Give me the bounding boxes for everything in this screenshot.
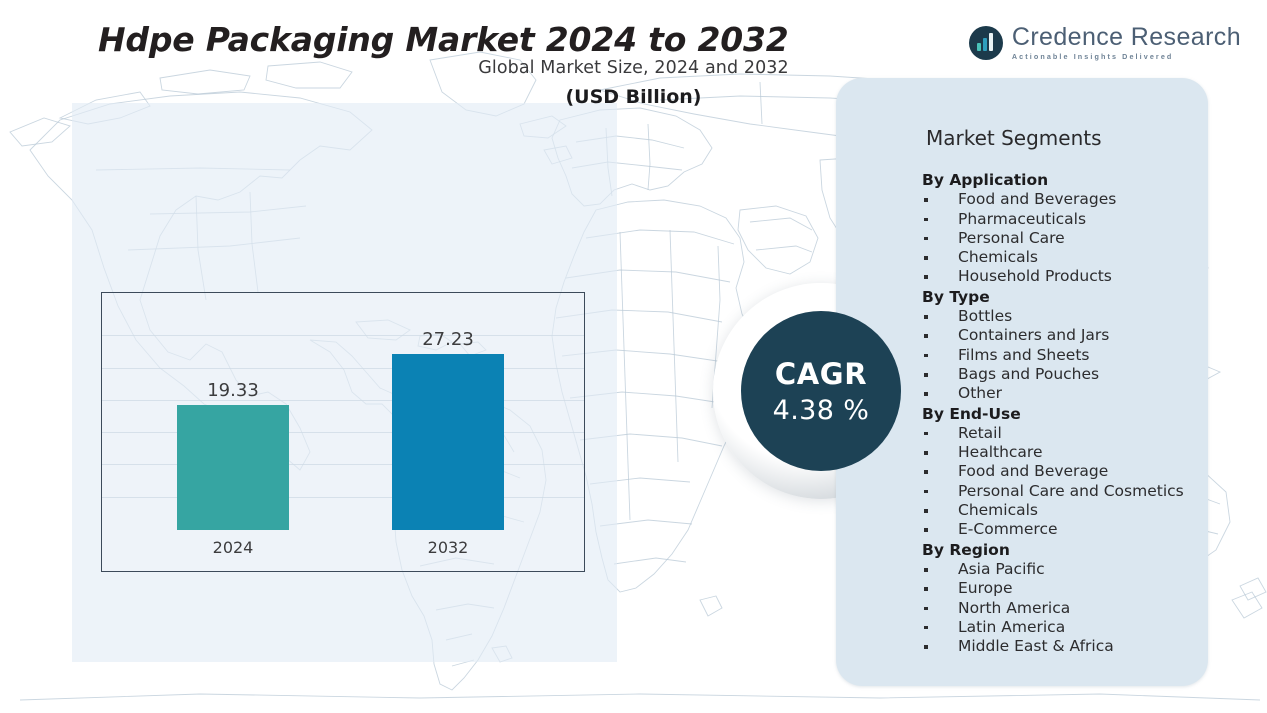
segment-list-item: Chemicals <box>922 248 1198 267</box>
brand-tagline: Actionable Insights Delivered <box>1012 53 1241 60</box>
segment-list-item: Containers and Jars <box>922 326 1198 345</box>
bar-chart-circle-icon <box>969 26 1003 60</box>
segment-item-label: Containers and Jars <box>958 326 1109 344</box>
segment-item-label: Personal Care and Cosmetics <box>958 482 1184 500</box>
segment-list-item: Personal Care <box>922 229 1198 248</box>
segment-list-item: North America <box>922 599 1198 618</box>
bullet-icon <box>924 470 928 474</box>
segment-group-heading: By Region <box>922 541 1198 560</box>
segment-list-item: Food and Beverage <box>922 462 1198 481</box>
bullet-icon <box>924 315 928 319</box>
cagr-value: 4.38 % <box>773 395 870 426</box>
bullet-icon <box>924 373 928 377</box>
bullet-icon <box>924 626 928 630</box>
bar-group-2024: 19.33 2024 <box>177 405 289 530</box>
bullet-icon <box>924 432 928 436</box>
bar-category-label: 2032 <box>428 538 469 557</box>
segment-item-label: Food and Beverage <box>958 462 1108 480</box>
segment-item-label: Europe <box>958 579 1013 597</box>
segment-item-label: Latin America <box>958 618 1065 636</box>
segment-list-item: Films and Sheets <box>922 346 1198 365</box>
bar-2024 <box>177 405 289 530</box>
bullet-icon <box>924 451 928 455</box>
bullet-icon <box>924 509 928 513</box>
bullet-icon <box>924 587 928 591</box>
segment-list-item: Food and Beverages <box>922 190 1198 209</box>
bullet-icon <box>924 334 928 338</box>
page-title: Hdpe Packaging Market 2024 to 2032 <box>98 20 789 59</box>
segment-item-label: Middle East & Africa <box>958 637 1114 655</box>
segment-list-item: Bags and Pouches <box>922 365 1198 384</box>
segment-group-heading: By Application <box>922 171 1198 190</box>
segment-item-label: Chemicals <box>958 501 1038 519</box>
segment-list-item: Asia Pacific <box>922 560 1198 579</box>
segment-group-heading: By End-Use <box>922 405 1198 424</box>
segment-item-label: Chemicals <box>958 248 1038 266</box>
bullet-icon <box>924 528 928 532</box>
segment-item-label: Pharmaceuticals <box>958 210 1086 228</box>
market-segments-list: By ApplicationFood and BeveragesPharmace… <box>922 170 1198 656</box>
brand-logo: Credence Research Actionable Insights De… <box>969 25 1241 60</box>
infographic-page: Hdpe Packaging Market 2024 to 2032 Crede… <box>0 0 1267 713</box>
bar-value-label: 19.33 <box>207 380 259 401</box>
brand-name: Credence Research <box>1012 25 1241 50</box>
chart-bars: 19.33 2024 27.23 2032 <box>102 330 584 530</box>
segment-list-item: Household Products <box>922 267 1198 286</box>
segment-item-label: Household Products <box>958 267 1112 285</box>
segment-list-item: Middle East & Africa <box>922 637 1198 656</box>
cagr-label: CAGR <box>775 357 867 391</box>
segment-list-item: Bottles <box>922 307 1198 326</box>
segment-list-item: Other <box>922 384 1198 403</box>
bar-value-label: 27.23 <box>422 329 474 350</box>
bar-chart-plot-area: 19.33 2024 27.23 2032 <box>101 292 585 572</box>
segment-list-item: Healthcare <box>922 443 1198 462</box>
bullet-icon <box>924 237 928 241</box>
bullet-icon <box>924 198 928 202</box>
segment-list-item: E-Commerce <box>922 520 1198 539</box>
bullet-icon <box>924 275 928 279</box>
bar-2032 <box>392 354 504 530</box>
segment-item-label: North America <box>958 599 1070 617</box>
segment-item-label: Bags and Pouches <box>958 365 1099 383</box>
segment-group-heading: By Type <box>922 288 1198 307</box>
segment-list-item: Chemicals <box>922 501 1198 520</box>
segment-list-item: Personal Care and Cosmetics <box>922 482 1198 501</box>
segment-item-label: Personal Care <box>958 229 1065 247</box>
segment-item-label: Retail <box>958 424 1002 442</box>
segment-item-label: Other <box>958 384 1002 402</box>
segment-item-label: E-Commerce <box>958 520 1058 538</box>
bullet-icon <box>924 392 928 396</box>
segment-list-item: Europe <box>922 579 1198 598</box>
bullet-icon <box>924 354 928 358</box>
segment-item-label: Films and Sheets <box>958 346 1089 364</box>
cagr-badge: CAGR 4.38 % <box>741 311 901 471</box>
segment-item-label: Food and Beverages <box>958 190 1116 208</box>
bullet-icon <box>924 607 928 611</box>
segment-list-item: Retail <box>922 424 1198 443</box>
bar-group-2032: 27.23 2032 <box>392 354 504 530</box>
segment-item-label: Healthcare <box>958 443 1043 461</box>
segment-item-label: Bottles <box>958 307 1012 325</box>
segment-item-label: Asia Pacific <box>958 560 1045 578</box>
bullet-icon <box>924 218 928 222</box>
bar-category-label: 2024 <box>213 538 254 557</box>
bullet-icon <box>924 256 928 260</box>
segment-list-item: Latin America <box>922 618 1198 637</box>
segment-list-item: Pharmaceuticals <box>922 210 1198 229</box>
bullet-icon <box>924 645 928 649</box>
market-segments-title: Market Segments <box>926 126 1102 150</box>
bullet-icon <box>924 490 928 494</box>
bullet-icon <box>924 568 928 572</box>
chart-title-line1: Global Market Size, 2024 and 2032 <box>0 58 1267 78</box>
